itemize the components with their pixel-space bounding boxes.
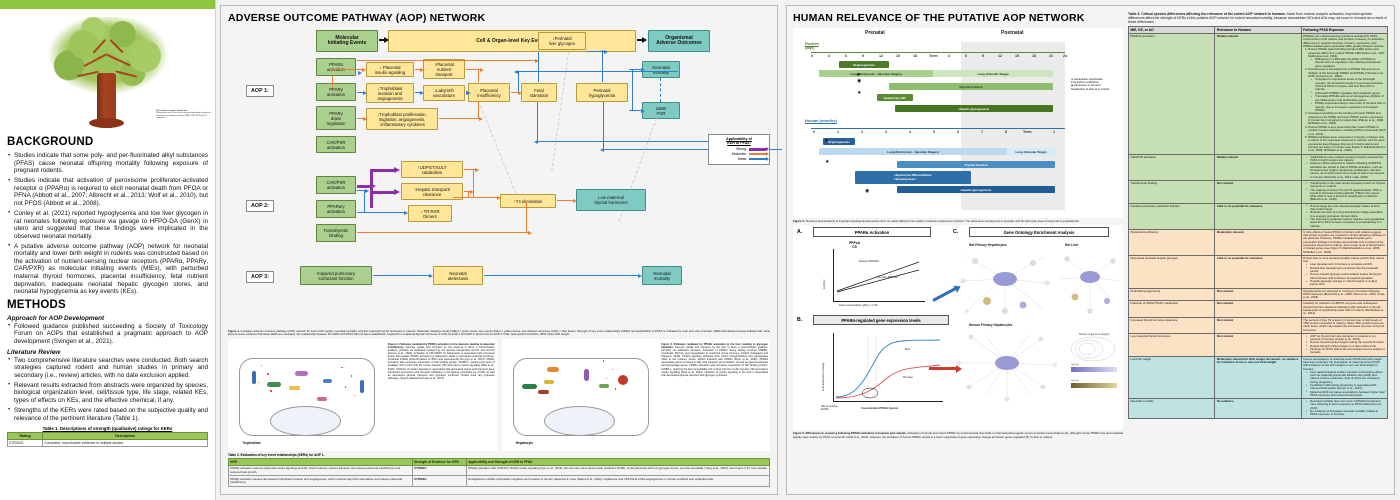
human-bar-lung-alveolar: Lung (Alveolar Stage) <box>1007 148 1055 155</box>
list-item: Conley et al. (2021) reported hypoglycem… <box>7 210 208 240</box>
aop-legend: Applicability of KER to PFAS: Strong: Mo… <box>708 134 770 165</box>
arrow-surfactant-to-atelectasis <box>373 275 429 276</box>
figure3-caption: Figure 3. Pathways mediated by PPARα act… <box>661 341 768 449</box>
rodent-tick: 0 <box>811 54 813 58</box>
channel-icon <box>584 369 589 381</box>
panelB-x-axis <box>833 401 943 402</box>
node-labyrinth-vasculature: ↓Labyrinth vasculature <box>423 85 465 101</box>
postnatal-region <box>961 42 1065 210</box>
node-placental-insulin-signaling: ↓ Placental insulin signaling <box>366 62 414 77</box>
arrow-hypo-to-lbw <box>629 110 641 111</box>
list-item: Few epidemiological studies consider con… <box>1307 371 1385 384</box>
arrow-insufficiency-to-starvation <box>511 92 518 93</box>
table-cell-detail: The percent of free T4 is lower in human… <box>1301 317 1387 333</box>
nucleus-icon <box>270 406 341 436</box>
kinase-icon <box>323 379 332 383</box>
weak-arrow-icon <box>749 158 766 159</box>
figure3-hepatocyte-diagram: Hepatocyte <box>504 341 659 449</box>
aop2-label: AOP 2: <box>246 200 274 212</box>
column-background-methods: The nuclear receptor family tree Phyloge… <box>0 0 216 500</box>
arrow-purple-to-udpgt <box>372 169 396 172</box>
figure4-caption-text: Timelines and durations of important dev… <box>805 219 1079 223</box>
node-placental-nutrient-transport: ↓Placental nutrient transport <box>423 59 465 79</box>
table-header-cell: Description <box>43 433 208 440</box>
table-cell-detail: Human liver is more developmentally matu… <box>1301 255 1387 288</box>
table-row: Transthyretin binding Not relevant Trans… <box>1129 180 1388 203</box>
figure3-block: Hepatocyte Figure 3. Pathways mediated b… <box>502 339 771 451</box>
connector-carpxr-feedback-v2 <box>603 102 604 149</box>
arrow-glycogen-right <box>586 51 604 52</box>
panelC-network-label-2: Rat Liver <box>1065 243 1079 247</box>
panelA-chemical-label: PFPeA C5 <box>849 241 860 249</box>
node-neonatal-mortality-aop3: Neonatal mortality <box>642 266 682 285</box>
connector-glycogen-to-hypoglycemia <box>602 50 603 82</box>
arrow-mie-to-ke <box>379 39 385 41</box>
background-heading: BACKGROUND <box>7 136 208 148</box>
table-header-cell: Applicability and Strength of KER to PFA… <box>467 458 770 465</box>
table-cell-detail: PPARα/γ are nutrient-sensing receptors a… <box>1301 34 1387 155</box>
rodent-tick: 21 <box>1049 54 1053 58</box>
figure2-caption: Figure 2. Pathways mediated by PPARγ act… <box>388 341 495 449</box>
node-carpxr-activation-aop1: CAR/PXR activation <box>316 136 356 153</box>
table-row: Low birth weight Moderately relevant for… <box>1129 356 1388 399</box>
panelB-series-curves <box>834 335 944 401</box>
panelC-network-label-1: Rat Primary Hepatocytes <box>969 243 1007 247</box>
table3-wrapper: Table 3. Critical species differences af… <box>1128 12 1388 488</box>
panelA-series-mouse: Mouse PPARα <box>859 259 879 263</box>
table-header-cell: MIE, KE, or AO <box>1129 27 1215 34</box>
arrow-hepatic-right <box>464 191 470 192</box>
panelB-ylabel: Fold Expression Change <box>822 363 825 391</box>
list-item: Human PPARα ligand binding domain (LBD) … <box>1308 48 1385 68</box>
list-item: A putative adverse outcome pathway (AOP)… <box>7 243 208 296</box>
arrow-ke-to-ao <box>637 39 643 41</box>
node-udpgt-sult: ↑UDPGT/SULT catabolism <box>401 161 463 178</box>
table-cell-ker: PPARγ activation reduces placental insul… <box>229 466 413 476</box>
table-cell-strength: STRONG <box>412 476 466 486</box>
figure4-developmental-timeline: Prenatal Postnatal Rodent (days) 0 3 6 9… <box>793 28 1123 218</box>
figure2-caption-text: Glucose uptake and transport by the plac… <box>388 346 495 380</box>
detail-list: Few epidemiological studies consider con… <box>1303 371 1385 397</box>
table-row: Low maternal thyroid hormones Not releva… <box>1129 333 1388 356</box>
connector-mortality-lbw-dashed <box>660 78 661 102</box>
tree-figure-caption: The nuclear receptor family tree Phyloge… <box>155 109 213 131</box>
table-cell-event: Low maternal thyroid hormones <box>1129 333 1215 356</box>
human-tick: 2 <box>861 130 863 134</box>
table-cell-relevance: No evidence <box>1215 399 1301 418</box>
enzyme-icon <box>289 386 300 390</box>
node-tr-rxr-dimers: ↓ TR:RXR Dimers <box>408 205 452 222</box>
star-symbol-icon: ★ <box>857 90 861 96</box>
list-item: No evidence of increased neonatal mortal… <box>1307 410 1385 417</box>
tree-trunk-icon <box>97 73 116 128</box>
nuclear-receptor-tree-figure: The nuclear receptor family tree Phyloge… <box>0 9 215 131</box>
arrow-trophoblast-to-labyrinth <box>415 92 420 93</box>
figure4-caption: Figure 4. Timelines and durations of imp… <box>793 220 1123 223</box>
arrow-to-t4-elimination <box>453 197 497 198</box>
node-perinatal-liver-glycogen: ↓Perinatal liver glycogen <box>538 32 586 50</box>
detail-intro: Inverse associations of maternal serum P… <box>1303 358 1385 371</box>
rodent-tick: 3 <box>828 54 830 58</box>
poster-root: The nuclear receptor family tree Phyloge… <box>0 0 1400 500</box>
table-row: Placental insufficiency Moderately relev… <box>1129 229 1388 255</box>
table-cell-relevance: Not relevant <box>1215 180 1301 203</box>
table-cell-detail: AOP for thyroid hormone disruption in ro… <box>1301 333 1387 356</box>
panelC-enrichment-bars: Number of genes in category -log10(p) -l… <box>1065 329 1125 401</box>
timeline-symbol-legend: ★ Hepatoblast specification ♥ Heart/foot… <box>1071 78 1127 91</box>
strong-arrow-icon <box>749 148 766 151</box>
panelC-title: Gene Ontology Enrichment Analysis <box>969 227 1109 237</box>
table-header-cell: Relevance to Humans <box>1215 27 1301 34</box>
rodent-bar-hepatocyte: Hepatocyte diff. <box>877 94 913 101</box>
list-item: The pulmonary surfactant system matures … <box>1307 218 1385 228</box>
panelB-xlabel: Concentration PPARα Agonist <box>861 407 898 410</box>
node-trophoblast-proliferation: ↓Trophoblast proliferation, migration, a… <box>366 108 438 130</box>
column-human-relevance: HUMAN RELEVANCE OF THE PUTATIVE AOP NETW… <box>782 0 1400 500</box>
human-tick: 1 <box>1053 130 1055 134</box>
panelC-network-label-3: Human Primary Hepatocytes <box>969 323 1012 327</box>
methods-literature-bullets: Two comprehensive literature searches we… <box>7 357 208 423</box>
rodent-tick: 15 <box>1015 54 1019 58</box>
list-item: Increased specificity for the binding of… <box>1308 112 1385 125</box>
connector-hypoglycemia-down <box>632 92 633 110</box>
methods-heading: METHODS <box>7 299 208 311</box>
list-item: PPARα-mediated gene expression in humans… <box>1308 136 1385 152</box>
methods-subheading-aop: Approach for AOP Development <box>7 315 208 322</box>
panelA-y-axis <box>833 249 834 301</box>
panelB-series-human: Human <box>903 375 913 379</box>
rodent-tick: 12 <box>998 54 1002 58</box>
connector-hypoglycemia-up <box>632 70 633 92</box>
list-item: Findings on PFAS effects are inconsisten… <box>1307 348 1385 355</box>
connector-feedback-vertical <box>518 72 519 92</box>
table-cell-relevance: Weakly relevant <box>1215 154 1301 180</box>
human-bar-thyroid: Thyroid function <box>897 161 1055 168</box>
receptor-icon <box>547 367 559 372</box>
node-pparalphagamma-activation: PPARα/γ activation <box>316 200 356 218</box>
human-tick: 5 <box>933 130 935 134</box>
table-cell-event: Increased thyroid hormone clearance <box>1129 317 1215 333</box>
table1-caption: Table 1. Descriptions of strength (quali… <box>7 426 208 431</box>
figure1-caption-text: A putative adverse outcome pathway (AOP)… <box>228 329 770 336</box>
table-cell-detail: In vitro effects of tested PFAS in human… <box>1301 229 1387 255</box>
list-item: Compared to expression levels of the ful… <box>1312 78 1385 91</box>
rodent-bar-lung-alveolar: Lung (Alveolar Stage) <box>933 70 1053 77</box>
list-item: PPARγ expression likely is also lower in… <box>1312 102 1385 112</box>
transporter-icon <box>522 384 537 389</box>
table-cell-relevance: Not relevant <box>1215 301 1301 317</box>
table-row: PPARα/γ activation Weakly relevant PPARα… <box>1129 34 1388 155</box>
panelB-plot: Rat Human Fold Expression Change Concent… <box>819 331 949 413</box>
table-row: STRONG Consistent, reproducible evidence… <box>8 440 208 447</box>
human-bar-glycogenesis: Hepatic glycogenesis <box>897 186 1055 193</box>
table-cell-event: Decreased perinatal hepatic glycogen <box>1129 255 1215 288</box>
table-cell-strength: STRONG <box>412 466 466 476</box>
table-cell-relevance: Little to no potential for relevance <box>1215 255 1301 288</box>
detail-list: Neonatal mortality does not occur in PPA… <box>1303 400 1385 416</box>
arrow-feedback-to-carpxr-a <box>538 141 718 142</box>
enzyme-icon <box>544 380 554 384</box>
arrow-udpgt-right <box>464 169 475 170</box>
rodent-tick: Term <box>929 54 938 58</box>
list-item: Two comprehensive literature searches we… <box>7 357 208 380</box>
table-header-cell: Strength of Evidence for KER <box>412 458 466 465</box>
table-cell-event: Induction of UDPGT/SULT catabolism <box>1129 301 1215 317</box>
node-transthyretin-binding: Transthyretin binding <box>316 224 356 242</box>
sub-list: Compared to expression levels of the ful… <box>1308 78 1385 112</box>
moderate-arrow-icon <box>749 153 766 155</box>
node-carpxr-activation-aop2: CAR/PXR activation <box>316 176 356 194</box>
table-header-cell: Following PFAS Exposure <box>1301 27 1387 34</box>
panelC-letter: C. <box>953 229 958 235</box>
list-item: Maternal GFR can cause associations betw… <box>1307 391 1385 398</box>
rodent-tick: 9 <box>862 54 864 58</box>
node-fetal-starvation: Fetal starvation <box>521 83 557 102</box>
table-cell-event: Impaired pulmonary surfactant function <box>1129 203 1215 229</box>
human-panel-title: HUMAN RELEVANCE OF THE PUTATIVE AOP NETW… <box>793 12 1123 24</box>
rodent-tick: 9 <box>982 54 984 58</box>
human-relevance-panel: HUMAN RELEVANCE OF THE PUTATIVE AOP NETW… <box>786 5 1395 495</box>
rodent-tick: 6 <box>845 54 847 58</box>
table-cell-relevance: Weakly relevant <box>1215 34 1301 155</box>
node-low-maternal-thyroid: Low maternal thyroid hormones <box>576 189 646 211</box>
table-row: Impaired pulmonary surfactant function L… <box>1129 203 1388 229</box>
panelA-letter: A. <box>797 229 802 235</box>
node-trophoblast-invasion: ↓Trophoblast invasion and angiogenesis <box>366 83 414 103</box>
table-cell: Consistent, reproducible evidence in mul… <box>43 440 208 447</box>
placenta-symbol-icon: ◉ <box>865 188 869 194</box>
node-impaired-surfactant: Impaired pulmonary surfactant function <box>300 266 372 285</box>
list-item: Studies indicate that some poly- and per… <box>7 152 208 175</box>
panelA-xlabel: Dose concentration (µM) p < 0.05 <box>839 304 878 307</box>
detail-list: Human lungs are more developmentally mat… <box>1303 205 1385 228</box>
figure4-caption-label: Figure 4. <box>793 219 805 223</box>
rodent-bar-thyroid: Thyroid function <box>889 83 1053 90</box>
rodent-bar-organogenesis: Organogenesis <box>839 61 889 68</box>
table-strength-ratings: Rating Description STRONG Consistent, re… <box>7 432 208 447</box>
detail-list: Transthyretin is the main serum transpor… <box>1303 182 1385 202</box>
table-cell-event: PPARα/γ activation <box>1129 34 1215 155</box>
aop-network-diagram: Molecular Initiating Events Cell & Organ… <box>228 28 770 328</box>
table-row: Increased thyroid hormone clearance Not … <box>1129 317 1388 333</box>
list-item: Differences in LBDs alter the ability of… <box>1312 58 1385 68</box>
table-row: Neonatal mortality No evidence Neonatal … <box>1129 399 1388 418</box>
panelA-x-axis <box>833 301 925 302</box>
table-ker-evaluation: Table 2. Evaluation of key event relatio… <box>228 453 770 487</box>
panelC-network-rat-hepatocytes <box>955 249 1055 321</box>
table3-caption: Table 3. Critical species differences af… <box>1128 12 1388 25</box>
sub-list: Differences in LBDs alter the ability of… <box>1308 58 1385 68</box>
table-cell-detail: CAR/PXR are also nutrient-sensing recept… <box>1301 154 1387 180</box>
arrow-ppara-to-liverglycogen <box>357 60 535 61</box>
phase-label-prenatal: Prenatal <box>865 30 885 36</box>
figure1-caption: Figure 1. A putative adverse outcome pat… <box>228 330 770 337</box>
ghost-connector <box>480 106 522 208</box>
mechanism-figures-row: Trophoblast Figure 2. Pathways mediated … <box>228 339 770 451</box>
detail-list: CAR/PXR are also nutrient-sensing recept… <box>1303 156 1385 179</box>
arrow-t4-to-lowthyroid <box>557 200 573 201</box>
detail-list: Human PPARα ligand binding domain (LBD) … <box>1303 48 1385 152</box>
top-accent-bar <box>0 0 215 9</box>
node-pparg-downregulation: PPARγ down regulation <box>316 106 356 130</box>
table-cell-relevance: Not relevant <box>1215 317 1301 333</box>
human-relevance-figures: HUMAN RELEVANCE OF THE PUTATIVE AOP NETW… <box>793 12 1123 488</box>
table-cell: STRONG <box>8 440 43 447</box>
table-cell-relevance: Moderately relevant for birth weight dec… <box>1215 356 1301 399</box>
channel-icon <box>252 371 256 384</box>
column-aop-network: ADVERSE OUTCOME PATHWAY (AOP) NETWORK Mo… <box>216 0 782 500</box>
signal-icon <box>317 397 327 401</box>
list-item: Followed guidance published succeeding a… <box>7 323 208 346</box>
table-cell-relevance: Not relevant <box>1215 288 1301 301</box>
figure5-species-differences: A. PPARα Activation PFPeA C5 Mouse PPAR <box>793 225 1123 430</box>
rodent-bar-lung-early: Lung (Embryonic - Saccular Stages) <box>819 70 933 77</box>
connector-ppara-down <box>332 76 333 88</box>
node-neonatal-mortality-aop1: Neonatal mortality <box>642 61 680 78</box>
table-cell-event: Neonatal mortality <box>1129 399 1215 418</box>
human-tick: 3 <box>885 130 887 134</box>
rodent-tick: 18 <box>1032 54 1036 58</box>
legend-label: Parameters in humans/ Nasalization of pa… <box>1071 84 1109 90</box>
arrow-carpxr-purple-in <box>357 185 372 188</box>
table-cell-relevance: Moderately relevant <box>1215 229 1301 255</box>
table-cell-event: Low birth weight <box>1129 356 1215 399</box>
arrow-panelA-to-panelC <box>932 287 956 302</box>
human-tick: 8 <box>1005 130 1007 134</box>
arrow-pparay-to-trrxr <box>357 212 404 213</box>
aop-panel: ADVERSE OUTCOME PATHWAY (AOP) NETWORK Mo… <box>220 5 778 495</box>
table-cell-detail: Human lungs are more developmentally mat… <box>1301 203 1387 229</box>
table-cell-detail: Transthyretin is the main serum transpor… <box>1301 180 1387 203</box>
panelB-title: PPARα-regulated gene expression levels <box>813 315 949 325</box>
list-item: Hepatic glycogen storage in rodents begi… <box>1307 280 1385 287</box>
table-header-row: MIE, KE, or AO Relevance to Humans Follo… <box>1129 27 1388 34</box>
arrow-ppara-to-insulin <box>332 69 362 70</box>
legend-label: Weak: <box>737 157 747 161</box>
rodent-tick: 12 <box>879 54 883 58</box>
table-row: CAR/PXR activation Weakly relevant CAR/P… <box>1129 154 1388 180</box>
table-cell-event: Transthyretin binding <box>1129 180 1215 203</box>
transporter-icon <box>267 382 281 387</box>
legend-label: Strong: <box>736 147 747 151</box>
human-bar-hepatocyte: Hepatocyte differentiation Hematopoiesis <box>855 171 971 184</box>
tree-caption-body: Phylogenetic tree of the nuclear recepto… <box>156 112 212 119</box>
arrow-feedback-to-ppara <box>518 71 678 72</box>
list-item: Studies indicate that activation of pero… <box>7 177 208 207</box>
svg-text:Number of genes in category: Number of genes in category <box>1079 333 1111 336</box>
node-neonatal-atelectasis: Neonatal atelectasis <box>433 266 483 285</box>
rodent-unit-label: (days) <box>805 46 814 50</box>
panelB-letter: B. <box>797 317 802 323</box>
connector-prolif-up <box>478 102 479 118</box>
figure2-cell-label: Trophoblast <box>242 441 260 445</box>
panelC-network-rat-liver <box>1055 249 1125 321</box>
arrow-prolif-right <box>439 118 479 119</box>
table-species-differences: MIE, KE, or AO Relevance to Humans Follo… <box>1128 26 1388 419</box>
node-placental-insufficiency: Placental insufficiency <box>468 83 510 102</box>
table-cell-detail: Inverse associations of maternal serum P… <box>1301 356 1387 399</box>
human-tick: 1 <box>837 130 839 134</box>
table-header-row: KER Strength of Evidence for KER Applica… <box>229 458 770 465</box>
panelB-series-rat: Rat <box>905 347 910 351</box>
human-tick: Term <box>1023 130 1032 134</box>
node-ppara-activation: PPARα activation <box>316 58 356 76</box>
background-bullet-list: Studies indicate that some poly- and per… <box>7 152 208 296</box>
ghost-connector <box>551 52 569 171</box>
aop-header-ao: Organismal Adverse Outcomes <box>648 30 710 52</box>
table-row: PPARγ activation causes decreased tropho… <box>229 476 770 486</box>
legend-label: Moderate: <box>732 152 747 156</box>
table-header-cell: KER <box>229 458 413 465</box>
table-cell-event: Perinatal hypoglycemia <box>1129 288 1215 301</box>
connector-nutrient-down <box>478 70 479 82</box>
phase-label-postnatal: Postnatal <box>1001 30 1024 36</box>
node-t4-elimination: ↑T4 elimination <box>500 194 556 208</box>
figure5-caption: Figure 5. Differences in response follow… <box>793 432 1123 439</box>
rodent-tick: 24 <box>1063 54 1067 58</box>
panelA-title: PPARα Activation <box>813 227 931 237</box>
signal-icon <box>599 384 609 388</box>
species-label-human: Human (months) <box>805 118 837 123</box>
figure3-caption-text: Glucose uptake and transport by the live… <box>661 346 768 377</box>
panelC-network-human-hepatocytes <box>955 329 1059 403</box>
table-row: Induction of UDPGT/SULT catabolism Not r… <box>1129 301 1388 317</box>
table-row: PPARγ activation reduces placental insul… <box>229 466 770 476</box>
human-axis <box>811 128 1065 129</box>
table-cell-detail: Hypoglycemia not observed in monkeys or … <box>1301 288 1387 301</box>
table-cell-relevance: Not relevant <box>1215 333 1301 356</box>
table-cell-evidence: Rosiglitazone inhibits trophoblast migra… <box>467 476 770 486</box>
figure3-cell-label: Hepatocyte <box>516 441 533 445</box>
aop-header-mie: Molecular Initiating Events <box>316 30 378 52</box>
legend-row-moderate: Moderate: <box>712 152 766 156</box>
aop3-label: AOP 3: <box>246 271 274 283</box>
figure2-trophoblast-diagram: Trophoblast <box>230 341 385 449</box>
connector-carpxr-feedback-v1 <box>537 102 538 141</box>
human-bar-lung-early: Lung (Embryonic - Saccular Stages) <box>819 148 1007 155</box>
placenta-symbol-icon: ◉ <box>857 78 861 84</box>
list-item: The majority of human T4 and T3 (approxi… <box>1307 189 1385 202</box>
channel-icon <box>360 380 364 393</box>
table-header-cell: Rating <box>8 433 43 440</box>
rodent-tick: 18 <box>913 54 917 58</box>
arrow-atelectasis-to-mortality <box>484 275 638 276</box>
figure2-block: Trophoblast Figure 2. Pathways mediated … <box>228 339 497 451</box>
table-row: Perinatal hypoglycemia Not relevant Hypo… <box>1129 288 1388 301</box>
arrow-panelB-to-panelC <box>929 367 957 370</box>
panelA-plot: PFPeA C5 Mouse PPARα Human PPARα Dose co… <box>819 243 931 311</box>
human-tick: 6 <box>957 130 959 134</box>
arrow-ppargdown-to-prolif <box>357 118 363 119</box>
table-row: Decreased perinatal hepatic glycogen Lit… <box>1129 255 1388 288</box>
human-tick: 7 <box>981 130 983 134</box>
legend-title: Applicability of KER to PFAS: <box>712 137 766 146</box>
arrow-insulin-to-nutrient <box>415 69 420 70</box>
arrow-transthyretin-right <box>357 232 528 233</box>
table-cell-event: CAR/PXR activation <box>1129 154 1215 180</box>
rodent-bar-glycogenesis: Hepatic glycogenesis <box>895 105 1053 112</box>
node-lbw-fgr: LBW/ FGR <box>642 102 680 119</box>
table-cell-relevance: Little to no potential for relevance <box>1215 203 1301 229</box>
list-item: Humans have a truncated form of PPARα th… <box>1308 68 1385 112</box>
human-tick: 0 <box>813 130 815 134</box>
table2-caption: Table 2. Evaluation of key event relatio… <box>228 453 770 458</box>
panelB-note: Rat vs Human EC50s <box>821 405 837 411</box>
table-cell-evidence: PPARγ activation with GW7647 inhibits in… <box>467 466 770 476</box>
rodent-tick: 6 <box>965 54 967 58</box>
panelA-series-human: Human PPARα <box>877 275 898 279</box>
kinase-icon <box>538 390 549 394</box>
